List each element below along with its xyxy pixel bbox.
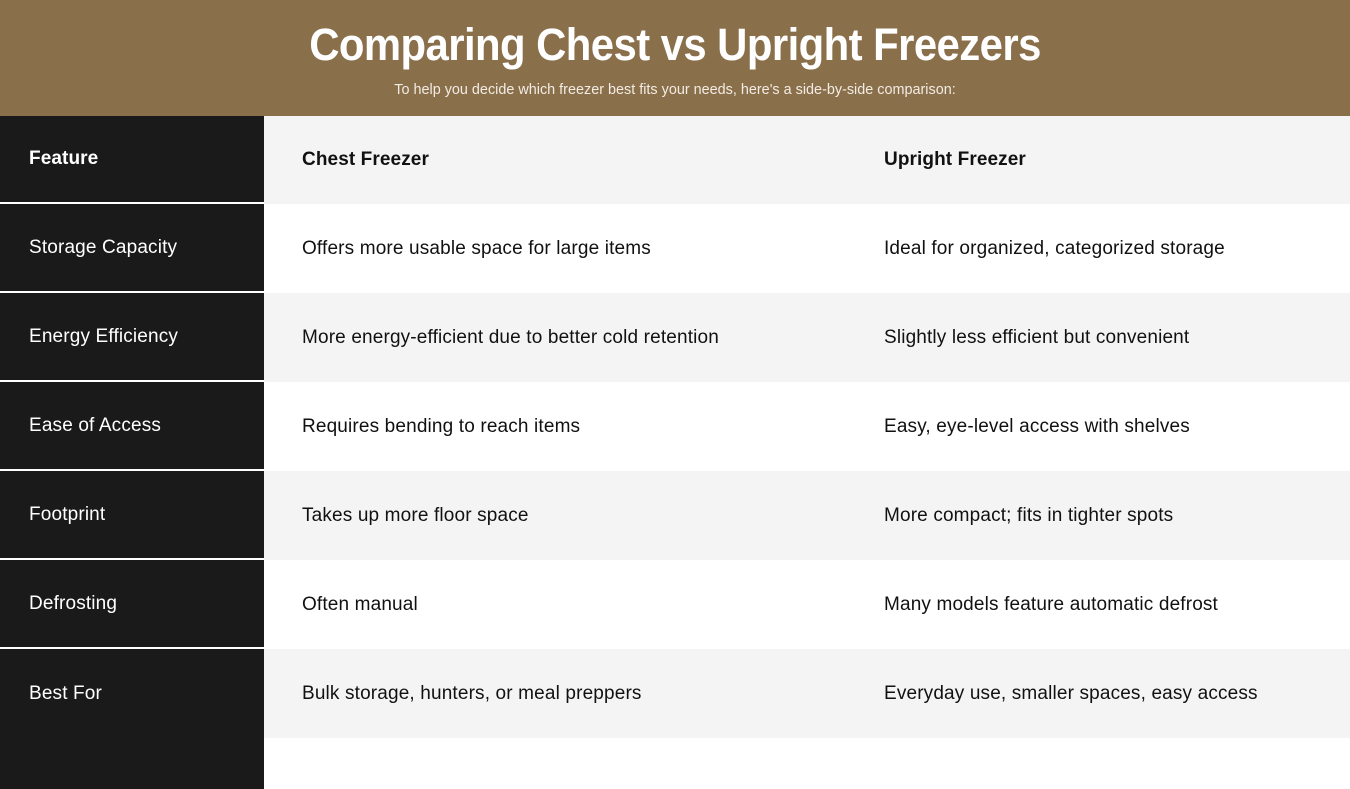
cell-upright-storage-capacity: Ideal for organized, categorized storage — [855, 238, 1350, 260]
cell-chest-storage-capacity: Offers more usable space for large items — [264, 238, 855, 260]
feature-column-header: Feature — [0, 116, 264, 204]
column-header-chest-freezer: Chest Freezer — [264, 149, 855, 171]
column-header-upright-freezer: Upright Freezer — [855, 149, 1350, 171]
cell-chest-energy-efficiency: More energy-efficient due to better cold… — [264, 327, 855, 349]
cell-chest-footprint: Takes up more floor space — [264, 505, 855, 527]
cell-upright-best-for: Everyday use, smaller spaces, easy acces… — [855, 683, 1350, 705]
cell-chest-best-for: Bulk storage, hunters, or meal preppers — [264, 683, 855, 705]
feature-column: Feature Storage Capacity Energy Efficien… — [0, 116, 264, 789]
page-header-banner: Comparing Chest vs Upright Freezers To h… — [0, 0, 1350, 116]
feature-label-footprint: Footprint — [0, 471, 264, 560]
feature-label-energy-efficiency: Energy Efficiency — [0, 293, 264, 382]
table-row: More energy-efficient due to better cold… — [264, 293, 1350, 382]
table-row: Often manual Many models feature automat… — [264, 560, 1350, 649]
table-row: Requires bending to reach items Easy, ey… — [264, 382, 1350, 471]
table-header-row: Chest Freezer Upright Freezer — [264, 116, 1350, 204]
table-row: Takes up more floor space More compact; … — [264, 471, 1350, 560]
cell-chest-ease-of-access: Requires bending to reach items — [264, 416, 855, 438]
cell-chest-defrosting: Often manual — [264, 594, 855, 616]
value-columns: Chest Freezer Upright Freezer Offers mor… — [264, 116, 1350, 789]
cell-upright-ease-of-access: Easy, eye-level access with shelves — [855, 416, 1350, 438]
cell-upright-energy-efficiency: Slightly less efficient but convenient — [855, 327, 1350, 349]
page-title: Comparing Chest vs Upright Freezers — [47, 17, 1303, 73]
feature-label-ease-of-access: Ease of Access — [0, 382, 264, 471]
feature-label-best-for: Best For — [0, 649, 264, 738]
feature-label-defrosting: Defrosting — [0, 560, 264, 649]
page-subtitle: To help you decide which freezer best fi… — [27, 80, 1323, 100]
comparison-table: Feature Storage Capacity Energy Efficien… — [0, 116, 1350, 789]
table-row: Bulk storage, hunters, or meal preppers … — [264, 649, 1350, 738]
feature-label-storage-capacity: Storage Capacity — [0, 204, 264, 293]
cell-upright-footprint: More compact; fits in tighter spots — [855, 505, 1350, 527]
cell-upright-defrosting: Many models feature automatic defrost — [855, 594, 1350, 616]
table-row: Offers more usable space for large items… — [264, 204, 1350, 293]
